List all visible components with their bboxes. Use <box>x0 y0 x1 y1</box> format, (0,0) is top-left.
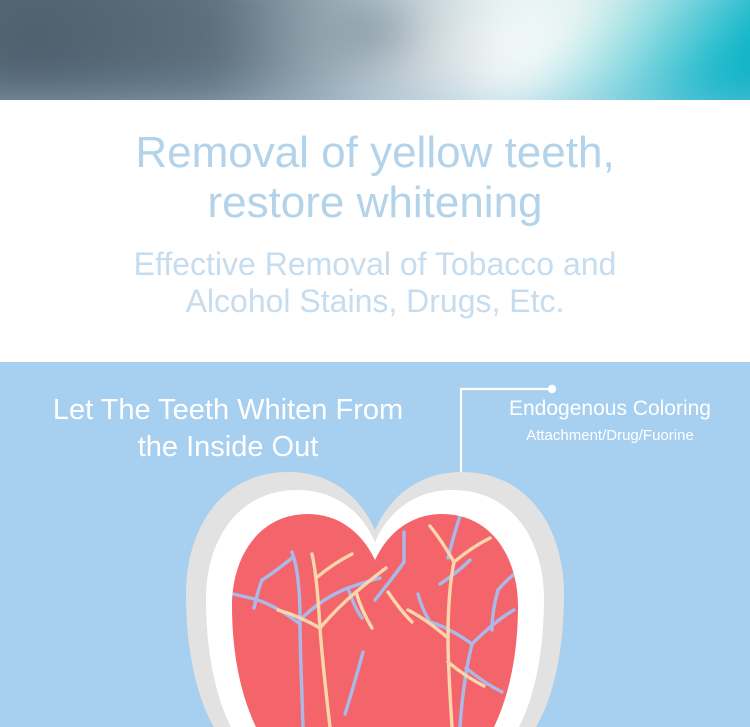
page-title-line-2: restore whitening <box>0 178 750 228</box>
page-subtitle-line-1: Effective Removal of Tobacco and <box>0 246 750 283</box>
tooth-cross-section-illustration <box>0 362 750 727</box>
headline-section: Removal of yellow teeth, restore whiteni… <box>0 100 750 362</box>
hero-banner-image <box>0 0 750 100</box>
page-subtitle-line-2: Alcohol Stains, Drugs, Etc. <box>0 283 750 320</box>
banner-bottom-blue <box>0 0 750 100</box>
page-subtitle: Effective Removal of Tobacco and Alcohol… <box>0 246 750 320</box>
page-root: Removal of yellow teeth, restore whiteni… <box>0 0 750 727</box>
feature-section: Let The Teeth Whiten From the Inside Out… <box>0 362 750 727</box>
page-title: Removal of yellow teeth, restore whiteni… <box>0 128 750 228</box>
page-title-line-1: Removal of yellow teeth, <box>0 128 750 178</box>
banner-blur-group <box>0 0 750 100</box>
